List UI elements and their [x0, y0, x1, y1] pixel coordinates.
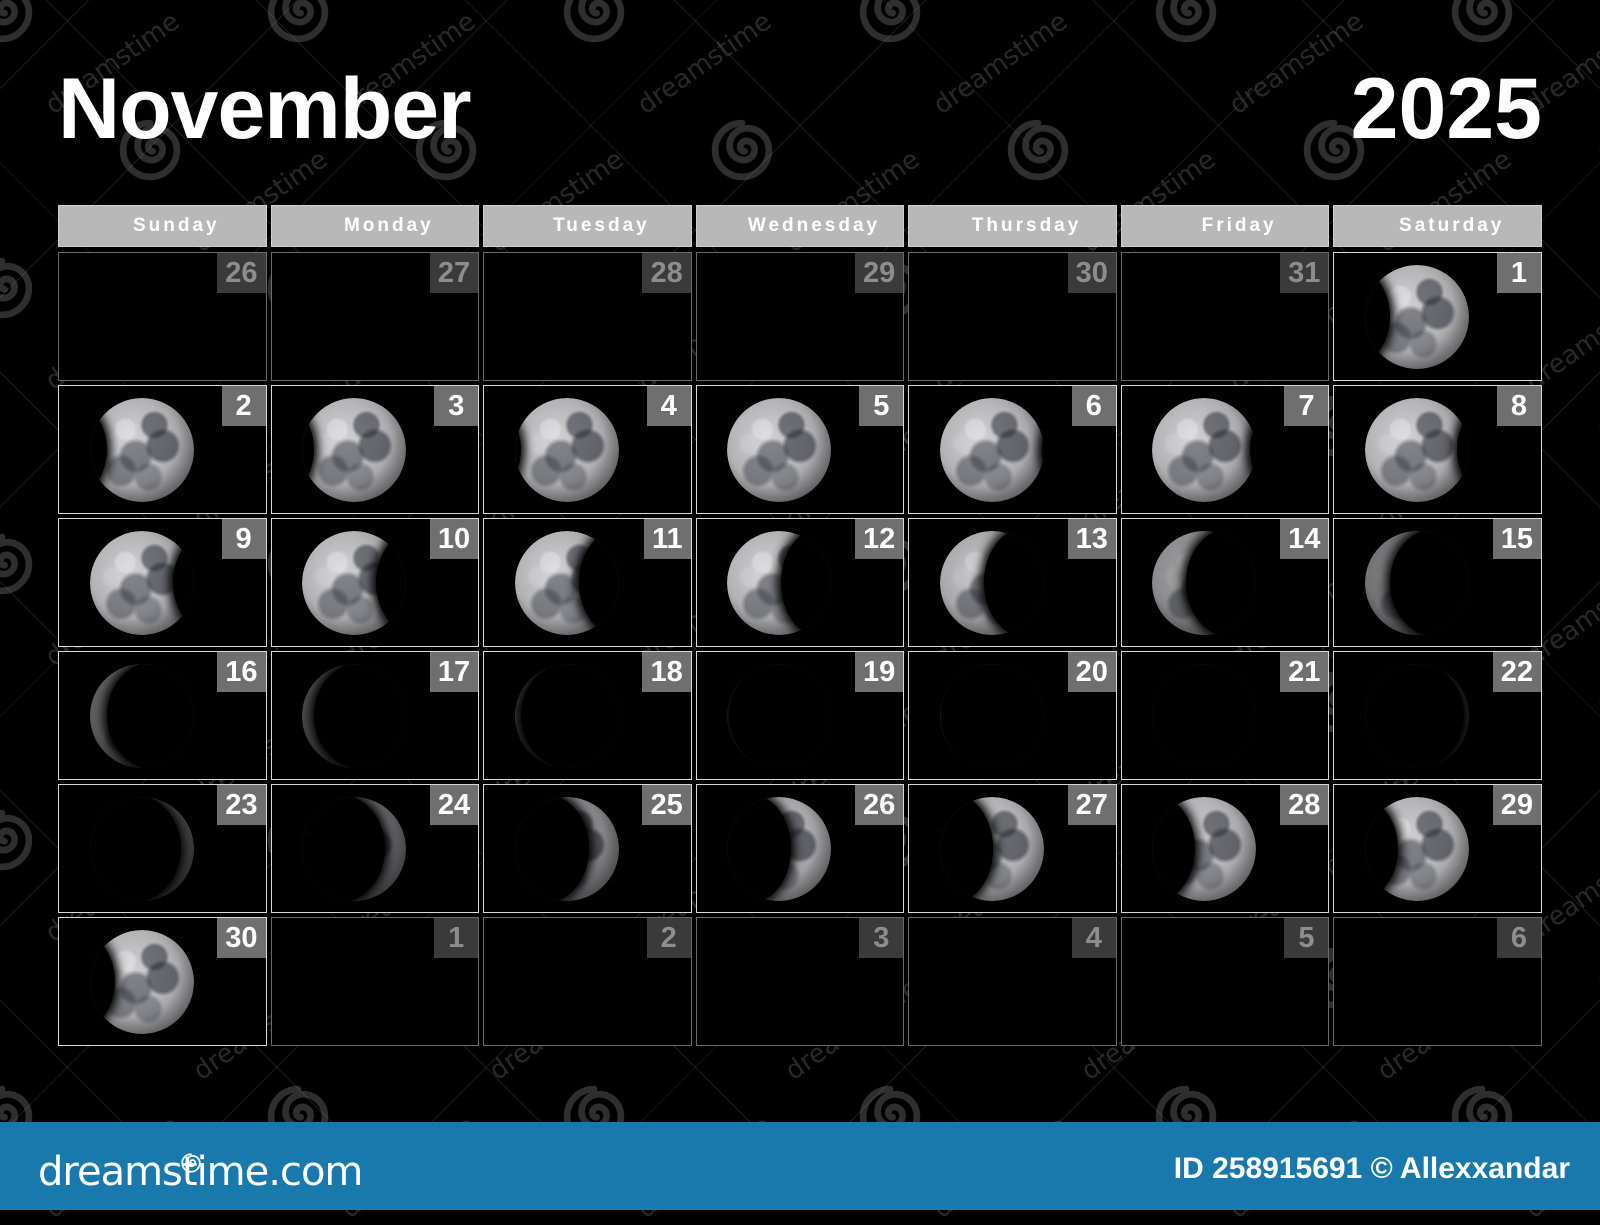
- day-number-badge: 13: [1068, 519, 1116, 559]
- calendar-weeks: 2627282930311234567891011121314151617181…: [58, 252, 1542, 1046]
- moon-phase-first-quarter: [727, 797, 831, 901]
- calendar-week-row: 2345678: [58, 385, 1542, 514]
- weekday-header-row: SundayMondayTuesdayWednesdayThursdayFrid…: [58, 205, 1542, 247]
- weekday-header-friday: Friday: [1121, 205, 1330, 247]
- moon-phase-waxing-gibbous: [302, 398, 406, 502]
- moon-phase-waning-gibbous: [90, 531, 194, 635]
- moon-dimming-overlay: [515, 797, 619, 901]
- day-number-badge: 28: [642, 253, 690, 293]
- moon-limb-darkening: [515, 531, 619, 635]
- moon-phase-waxing-gibbous: [515, 398, 619, 502]
- spiral-icon: [562, 0, 626, 44]
- weekday-header-wednesday: Wednesday: [696, 205, 905, 247]
- calendar-day-cell[interactable]: 27: [908, 784, 1117, 913]
- moon-phase-last-quarter: [727, 531, 831, 635]
- calendar-day-cell[interactable]: 10: [271, 518, 480, 647]
- day-number-badge: 21: [1280, 652, 1328, 692]
- moon-dimming-overlay: [1152, 531, 1256, 635]
- moon-phase-waning-crescent: [302, 664, 406, 768]
- moon-phase-waxing-gibbous: [1365, 265, 1469, 369]
- moon-phase-waxing-gibbous: [1365, 797, 1469, 901]
- calendar-day-cell[interactable]: 17: [271, 651, 480, 780]
- moon-phase-waxing-gibbous: [90, 398, 194, 502]
- day-number-badge: 5: [859, 386, 903, 426]
- calendar-day-cell[interactable]: 8: [1333, 385, 1542, 514]
- day-number-badge: 23: [217, 785, 265, 825]
- spiral-icon: [0, 532, 34, 596]
- calendar-day-cell[interactable]: 19: [696, 651, 905, 780]
- day-number-badge: 18: [642, 652, 690, 692]
- weekday-label: Monday: [344, 215, 434, 237]
- image-credit: ID 258915691 © Allexxandar: [1174, 1152, 1570, 1186]
- moon-phase-waning-gibbous: [515, 531, 619, 635]
- moon-limb-darkening: [1365, 797, 1469, 901]
- moon-phase-waning-crescent: [1365, 531, 1469, 635]
- day-number-badge: 5: [1284, 918, 1328, 958]
- day-number-badge: 6: [1072, 386, 1116, 426]
- day-number-badge: 26: [217, 253, 265, 293]
- weekday-label: Thursday: [972, 215, 1082, 237]
- calendar-day-cell[interactable]: 22: [1333, 651, 1542, 780]
- day-number-badge: 12: [855, 519, 903, 559]
- moon-phase-waning-crescent: [1152, 531, 1256, 635]
- day-number-badge: 9: [222, 519, 266, 559]
- calendar-day-cell[interactable]: 4: [483, 385, 692, 514]
- calendar-day-cell[interactable]: 26: [58, 252, 267, 381]
- day-number-badge: 27: [1068, 785, 1116, 825]
- moon-dimming-overlay: [1365, 664, 1469, 768]
- calendar-week-row: 23242526272829: [58, 784, 1542, 913]
- spiral-icon: [1154, 0, 1218, 44]
- day-number-badge: 14: [1280, 519, 1328, 559]
- moon-limb-darkening: [302, 398, 406, 502]
- moon-phase-first-quarter: [940, 797, 1044, 901]
- moon-limb-darkening: [940, 797, 1044, 901]
- calendar-day-cell[interactable]: 5: [1121, 917, 1330, 1046]
- calendar-day-cell[interactable]: 12: [696, 518, 905, 647]
- calendar-day-cell[interactable]: 1: [271, 917, 480, 1046]
- moon-dimming-overlay: [1365, 531, 1469, 635]
- calendar-day-cell[interactable]: 14: [1121, 518, 1330, 647]
- day-number-badge: 24: [430, 785, 478, 825]
- weekday-label: Tuesday: [553, 215, 650, 237]
- moon-dimming-overlay: [90, 797, 194, 901]
- weekday-header-saturday: Saturday: [1333, 205, 1542, 247]
- calendar-day-cell[interactable]: 29: [696, 252, 905, 381]
- calendar-day-cell[interactable]: 27: [271, 252, 480, 381]
- moon-limb-darkening: [1365, 265, 1469, 369]
- moon-phase-waxing-gibbous: [90, 930, 194, 1034]
- calendar-day-cell[interactable]: 4: [908, 917, 1117, 1046]
- calendar-title-bar: November 2025: [0, 58, 1600, 168]
- calendar-day-cell[interactable]: 30: [908, 252, 1117, 381]
- calendar-week-row: 2627282930311: [58, 252, 1542, 381]
- day-number-badge: 28: [1280, 785, 1328, 825]
- moon-phase-waning-crescent: [90, 664, 194, 768]
- moon-limb-darkening: [1152, 398, 1256, 502]
- moon-dimming-overlay: [940, 664, 1044, 768]
- moon-phase-waxing-crescent: [90, 797, 194, 901]
- calendar-day-cell[interactable]: 7: [1121, 385, 1330, 514]
- day-number-badge: 7: [1284, 386, 1328, 426]
- moon-phase-waxing-crescent: [1152, 664, 1256, 768]
- calendar-day-cell[interactable]: 26: [696, 784, 905, 913]
- day-number-badge: 2: [647, 918, 691, 958]
- moon-dimming-overlay: [302, 797, 406, 901]
- calendar-day-cell[interactable]: 23: [58, 784, 267, 913]
- moon-phase-waning-gibbous: [1152, 398, 1256, 502]
- moon-phase-new-moon: [727, 664, 831, 768]
- moon-dimming-overlay: [302, 664, 406, 768]
- footer-bar: dreamstime.com ID 258915691 © Allexxanda…: [0, 1122, 1600, 1210]
- day-number-badge: 6: [1497, 918, 1541, 958]
- moon-limb-darkening: [727, 398, 831, 502]
- spiral-icon: [0, 256, 34, 320]
- weekday-header-monday: Monday: [271, 205, 480, 247]
- year-number: 2025: [1351, 54, 1542, 164]
- calendar-day-cell[interactable]: 9: [58, 518, 267, 647]
- calendar-week-row: 16171819202122: [58, 651, 1542, 780]
- moon-limb-darkening: [90, 930, 194, 1034]
- day-number-badge: 11: [644, 519, 691, 559]
- moon-phase-full-moon: [727, 398, 831, 502]
- calendar-day-cell[interactable]: 11: [483, 518, 692, 647]
- day-number-badge: 8: [1497, 386, 1541, 426]
- calendar-day-cell[interactable]: 25: [483, 784, 692, 913]
- moon-limb-darkening: [1152, 797, 1256, 901]
- day-number-badge: 3: [859, 918, 903, 958]
- calendar-day-cell[interactable]: 28: [483, 252, 692, 381]
- day-number-badge: 30: [1068, 253, 1116, 293]
- moon-phase-last-quarter: [940, 531, 1044, 635]
- moon-phase-waning-gibbous: [302, 531, 406, 635]
- day-number-badge: 29: [855, 253, 903, 293]
- moon-phase-waning-crescent: [515, 664, 619, 768]
- spiral-icon: [180, 1138, 202, 1184]
- day-number-badge: 29: [1493, 785, 1541, 825]
- day-number-badge: 15: [1493, 519, 1541, 559]
- calendar-day-cell[interactable]: 15: [1333, 518, 1542, 647]
- calendar-day-cell[interactable]: 3: [696, 917, 905, 1046]
- day-number-badge: 31: [1280, 253, 1328, 293]
- calendar-day-cell[interactable]: 13: [908, 518, 1117, 647]
- moon-limb-darkening: [727, 531, 831, 635]
- weekday-label: Sunday: [133, 215, 220, 237]
- moon-phase-waxing-gibbous: [1152, 797, 1256, 901]
- weekday-header-tuesday: Tuesday: [483, 205, 692, 247]
- moon-dimming-overlay: [940, 531, 1044, 635]
- moon-phase-waning-gibbous: [940, 398, 1044, 502]
- calendar-day-cell[interactable]: 28: [1121, 784, 1330, 913]
- day-number-badge: 4: [647, 386, 691, 426]
- calendar-week-row: 30123456: [58, 917, 1542, 1046]
- day-number-badge: 25: [642, 785, 690, 825]
- moon-dimming-overlay: [727, 797, 831, 901]
- moon-limb-darkening: [940, 398, 1044, 502]
- calendar-grid: SundayMondayTuesdayWednesdayThursdayFrid…: [58, 205, 1542, 1050]
- moon-phase-waxing-crescent: [302, 797, 406, 901]
- moon-dimming-overlay: [515, 664, 619, 768]
- calendar-day-cell[interactable]: 24: [271, 784, 480, 913]
- month-name: November: [58, 54, 471, 164]
- moon-dimming-overlay: [90, 664, 194, 768]
- moon-phase-waxing-crescent: [515, 797, 619, 901]
- weekday-label: Saturday: [1399, 215, 1504, 237]
- calendar-week-row: 9101112131415: [58, 518, 1542, 647]
- day-number-badge: 3: [434, 386, 478, 426]
- weekday-header-thursday: Thursday: [908, 205, 1117, 247]
- calendar-day-cell[interactable]: 21: [1121, 651, 1330, 780]
- moon-phase-waxing-crescent: [1365, 664, 1469, 768]
- calendar-day-cell[interactable]: 1: [1333, 252, 1542, 381]
- spiral-icon: [0, 808, 34, 872]
- calendar-day-cell[interactable]: 2: [483, 917, 692, 1046]
- day-number-badge: 10: [430, 519, 478, 559]
- day-number-badge: 26: [855, 785, 903, 825]
- weekday-label: Wednesday: [748, 215, 880, 237]
- weekday-header-sunday: Sunday: [58, 205, 267, 247]
- moon-limb-darkening: [302, 531, 406, 635]
- calendar-day-cell[interactable]: 29: [1333, 784, 1542, 913]
- day-number-badge: 17: [430, 652, 478, 692]
- day-number-badge: 1: [434, 918, 478, 958]
- spiral-icon: [0, 0, 34, 44]
- day-number-badge: 27: [430, 253, 478, 293]
- moon-phase-new-moon: [940, 664, 1044, 768]
- weekday-label: Friday: [1202, 215, 1277, 237]
- spiral-icon: [1450, 0, 1514, 44]
- calendar-day-cell[interactable]: 16: [58, 651, 267, 780]
- day-number-badge: 19: [855, 652, 903, 692]
- calendar-day-cell[interactable]: 6: [1333, 917, 1542, 1046]
- moon-limb-darkening: [90, 531, 194, 635]
- moon-phase-waning-gibbous: [1365, 398, 1469, 502]
- calendar-day-cell[interactable]: 2: [58, 385, 267, 514]
- moon-dimming-overlay: [727, 664, 831, 768]
- spiral-icon: [266, 0, 330, 44]
- day-number-badge: 4: [1072, 918, 1116, 958]
- moon-limb-darkening: [90, 398, 194, 502]
- calendar-day-cell[interactable]: 5: [696, 385, 905, 514]
- spiral-icon: [858, 0, 922, 44]
- calendar-day-cell[interactable]: 31: [1121, 252, 1330, 381]
- day-number-badge: 22: [1493, 652, 1541, 692]
- day-number-badge: 20: [1068, 652, 1116, 692]
- calendar-day-cell[interactable]: 30: [58, 917, 267, 1046]
- moon-limb-darkening: [515, 398, 619, 502]
- day-number-badge: 1: [1497, 253, 1541, 293]
- day-number-badge: 30: [217, 918, 265, 958]
- moon-limb-darkening: [1365, 398, 1469, 502]
- day-number-badge: 16: [217, 652, 265, 692]
- calendar-day-cell[interactable]: 3: [271, 385, 480, 514]
- calendar-day-cell[interactable]: 20: [908, 651, 1117, 780]
- dreamstime-logo: dreamstime.com: [38, 1149, 362, 1195]
- calendar-day-cell[interactable]: 6: [908, 385, 1117, 514]
- day-number-badge: 2: [222, 386, 266, 426]
- moon-dimming-overlay: [1152, 664, 1256, 768]
- calendar-day-cell[interactable]: 18: [483, 651, 692, 780]
